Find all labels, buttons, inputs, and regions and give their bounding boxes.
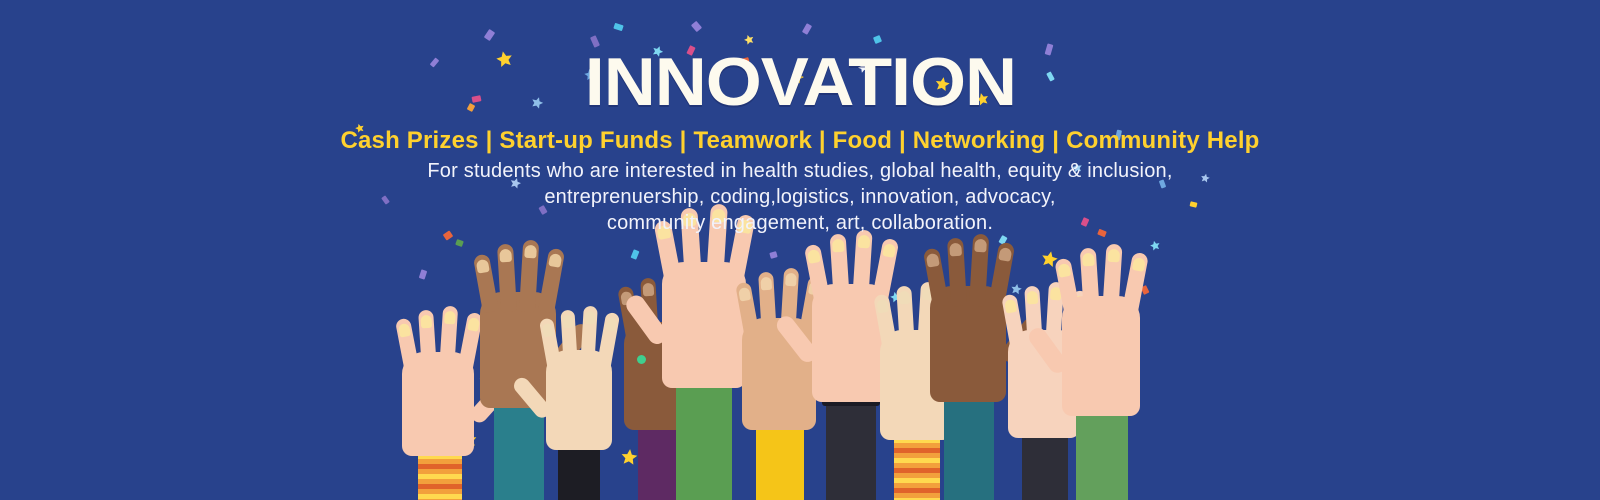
page-title: INNOVATION	[584, 48, 1015, 116]
subline-container: Cash Prizes | Start-up Funds | Teamwork …	[0, 128, 1600, 154]
description-container: For students who are interested in healt…	[0, 158, 1600, 236]
innovation-banner: INNOVATION Cash Prizes | Start-up Funds …	[0, 0, 1600, 500]
text-layer: INNOVATION Cash Prizes | Start-up Funds …	[0, 0, 1600, 500]
benefits-list: Cash Prizes | Start-up Funds | Teamwork …	[340, 128, 1259, 154]
description-line-3: community engagement, art, collaboration…	[0, 210, 1600, 236]
description-line-2: entreprenuership, coding,logistics, inno…	[0, 184, 1600, 210]
description-line-1: For students who are interested in healt…	[0, 158, 1600, 184]
headline-container: INNOVATION	[0, 48, 1600, 116]
